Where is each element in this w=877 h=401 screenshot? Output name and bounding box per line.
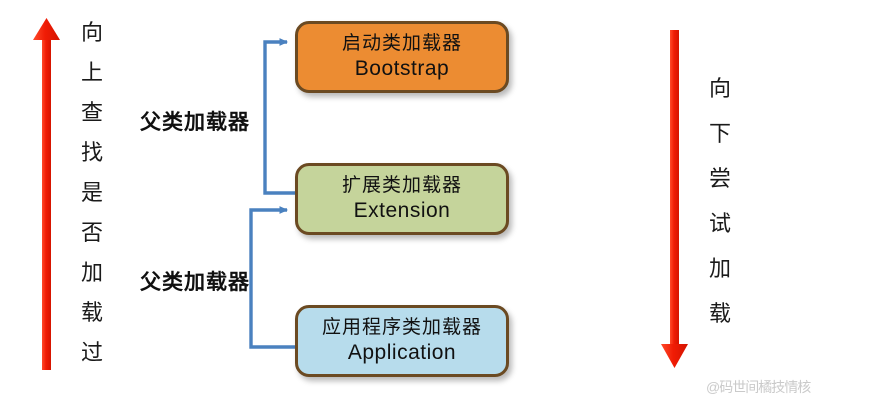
box-application-cn-label: 应用程序类加载器: [322, 317, 482, 339]
left-char-0: 向: [81, 22, 103, 44]
class-loader-box-bootstrap[interactable]: 启动类加载器 Bootstrap: [295, 21, 509, 93]
right-annotation-column: 向 下 尝 试 加 载: [698, 78, 742, 348]
right-char-5: 载: [709, 303, 731, 325]
left-char-6: 加: [81, 262, 103, 284]
box-extension-en-label: Extension: [354, 198, 451, 223]
up-arrow-icon: [30, 18, 64, 374]
box-bootstrap-en-label: Bootstrap: [355, 56, 449, 81]
left-char-4: 是: [81, 182, 103, 204]
right-char-1: 下: [709, 123, 731, 145]
class-loader-box-extension[interactable]: 扩展类加载器 Extension: [295, 163, 509, 235]
class-loader-box-application[interactable]: 应用程序类加载器 Application: [295, 305, 509, 377]
down-arrow-icon: [658, 30, 692, 368]
right-char-3: 试: [709, 213, 731, 235]
connector-application-to-extension: [251, 210, 295, 347]
right-char-4: 加: [709, 258, 731, 280]
right-char-0: 向: [709, 78, 731, 100]
box-bootstrap-cn-label: 启动类加载器: [342, 33, 462, 55]
parent-loader-label-top: 父类加载器: [140, 106, 250, 136]
left-char-1: 上: [81, 62, 103, 84]
left-char-7: 载: [81, 302, 103, 324]
left-char-8: 过: [81, 342, 103, 364]
parent-loader-label-bottom: 父类加载器: [140, 266, 250, 296]
left-char-5: 否: [81, 222, 103, 244]
left-char-3: 找: [81, 142, 103, 164]
diagram-canvas: 向 上 查 找 是 否 加 载 过 启动类加载器 Bootstrap 扩展类加载…: [0, 0, 877, 401]
left-char-2: 查: [81, 102, 103, 124]
watermark: @码世间橘技情核: [706, 377, 810, 397]
left-annotation-column: 向 上 查 找 是 否 加 载 过: [70, 22, 114, 382]
box-extension-cn-label: 扩展类加载器: [342, 175, 462, 197]
box-application-en-label: Application: [348, 340, 456, 365]
connector-extension-to-bootstrap: [265, 42, 295, 193]
right-char-2: 尝: [709, 168, 731, 190]
